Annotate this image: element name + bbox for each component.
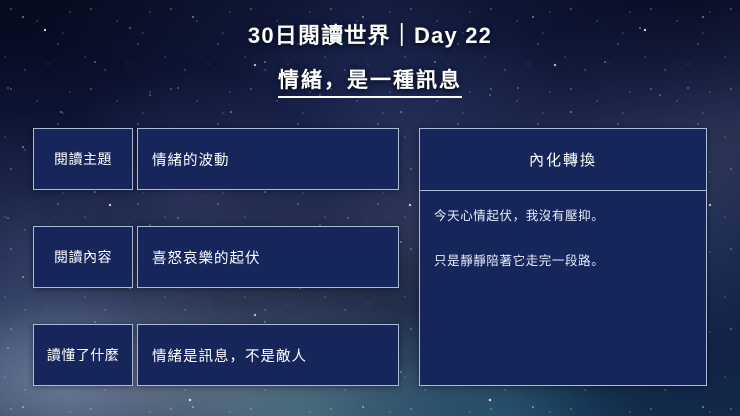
row-label-text: 閱讀主題 <box>54 149 112 169</box>
row-value-cell: 情緒是訊息，不是敵人 <box>137 324 399 386</box>
row-label-cell: 閱讀內容 <box>33 226 133 288</box>
row-value-text: 情緒是訊息，不是敵人 <box>152 345 307 366</box>
panel-header: 內化轉換 <box>420 129 706 191</box>
table-row: 閱讀內容 喜怒哀樂的起伏 <box>33 226 399 288</box>
row-label-cell: 閱讀主題 <box>33 128 133 190</box>
page-title: 30日閱讀世界｜Day 22 <box>0 22 740 50</box>
info-table: 閱讀主題 情緒的波動 閱讀內容 喜怒哀樂的起伏 讀懂了什麼 <box>33 128 399 386</box>
content-area: 閱讀主題 情緒的波動 閱讀內容 喜怒哀樂的起伏 讀懂了什麼 <box>33 128 707 386</box>
panel-body: 今天心情起伏，我沒有壓抑。 只是靜靜陪著它走完一段路。 <box>420 191 706 385</box>
row-value-text: 情緒的波動 <box>152 149 230 170</box>
panel-header-text: 內化轉換 <box>529 149 597 170</box>
reflection-panel: 內化轉換 今天心情起伏，我沒有壓抑。 只是靜靜陪著它走完一段路。 <box>419 128 707 386</box>
row-value-text: 喜怒哀樂的起伏 <box>152 247 261 268</box>
slide-root: 30日閱讀世界｜Day 22 情緒，是一種訊息 閱讀主題 情緒的波動 閱讀內容 … <box>0 0 740 416</box>
row-value-cell: 情緒的波動 <box>137 128 399 190</box>
panel-paragraph: 今天心情起伏，我沒有壓抑。 <box>434 207 692 226</box>
title-block: 30日閱讀世界｜Day 22 情緒，是一種訊息 <box>0 22 740 98</box>
page-subtitle: 情緒，是一種訊息 <box>278 64 462 98</box>
row-label-cell: 讀懂了什麼 <box>33 324 133 386</box>
row-label-text: 閱讀內容 <box>54 247 112 267</box>
panel-paragraph: 只是靜靜陪著它走完一段路。 <box>434 252 692 271</box>
row-value-cell: 喜怒哀樂的起伏 <box>137 226 399 288</box>
table-row: 閱讀主題 情緒的波動 <box>33 128 399 190</box>
table-row: 讀懂了什麼 情緒是訊息，不是敵人 <box>33 324 399 386</box>
subtitle-wrap: 情緒，是一種訊息 <box>0 64 740 98</box>
row-label-text: 讀懂了什麼 <box>47 345 120 365</box>
